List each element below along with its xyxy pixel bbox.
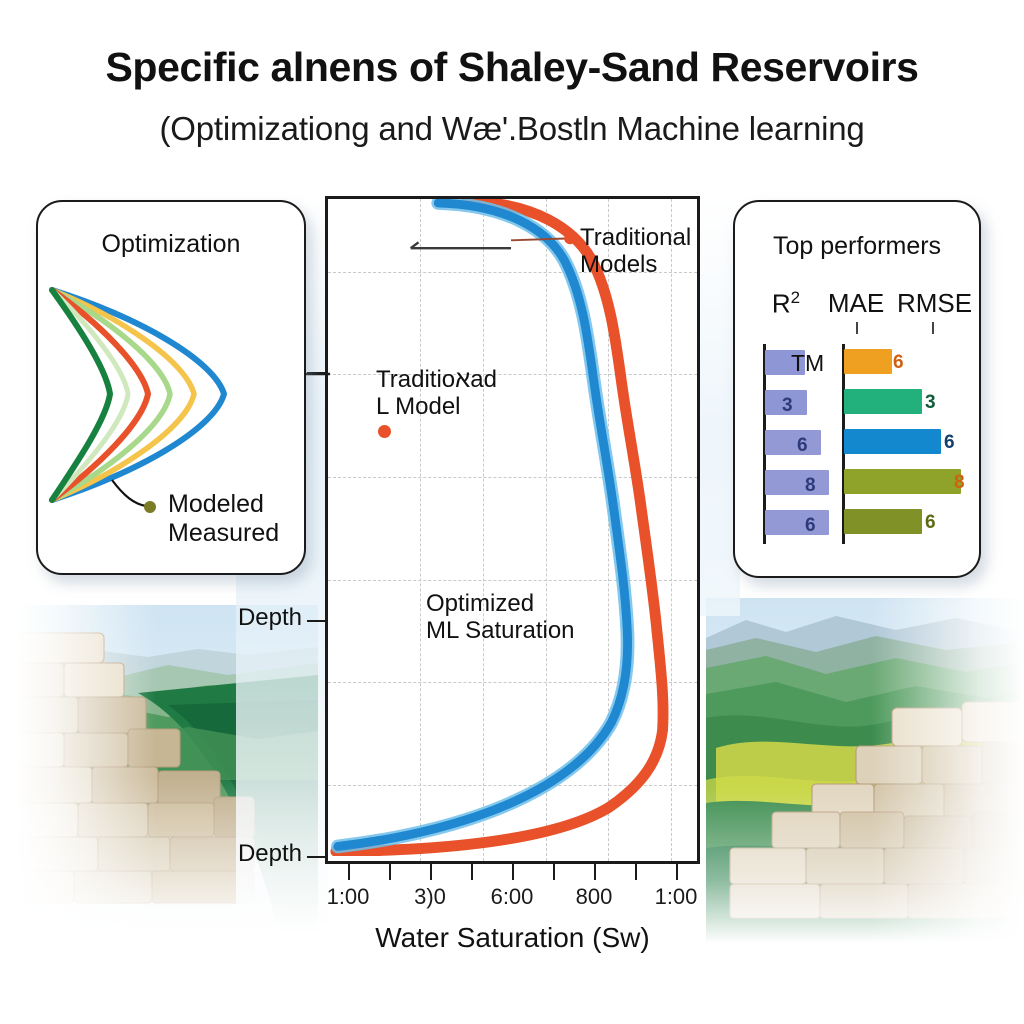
x-axis-tick-9 bbox=[676, 864, 678, 880]
x-axis-ticklabel-5: 1:00 bbox=[636, 884, 716, 910]
page-subtitle: (Optimizationg and Wæ'.Bostln Machine le… bbox=[0, 110, 1024, 148]
saturation-curves bbox=[328, 199, 697, 856]
x-axis-ticklabel-3: 6:00 bbox=[472, 884, 552, 910]
bar-metric-3 bbox=[844, 429, 941, 454]
right-landscape-image bbox=[706, 598, 1024, 943]
x-axis-tick-2 bbox=[389, 864, 391, 880]
optimization-convergence-curves bbox=[46, 268, 296, 518]
water-saturation-depth-plot: Traditional Models Traditioאad L Model O… bbox=[325, 196, 700, 864]
x-axis-ticklabel-1: 1:00 bbox=[308, 884, 388, 910]
page-title: Specific alnens of Shaley-Sand Reservoir… bbox=[0, 44, 1024, 91]
annotation-optimized-ml-saturation: Optimized ML Saturation bbox=[426, 591, 575, 645]
annotation-traditional-models: Traditional Models bbox=[580, 225, 691, 279]
bar-metric-1 bbox=[844, 349, 892, 374]
top-performers-inset-title: Top performers bbox=[735, 232, 979, 261]
metric-header-r2-text: R bbox=[772, 289, 791, 319]
bar-metric-value-3: 6 bbox=[944, 432, 955, 454]
bar-r2-5 bbox=[765, 510, 829, 535]
bar-r2-value-4: 8 bbox=[805, 475, 816, 497]
bar-r2-4 bbox=[765, 470, 829, 495]
bar-r2-value-2: 3 bbox=[782, 395, 793, 417]
bar-r2-3 bbox=[765, 430, 821, 455]
x-axis-tick-3 bbox=[430, 864, 432, 880]
metric-header-r2: R2 bbox=[751, 288, 821, 320]
bar-metric-4 bbox=[844, 469, 961, 494]
x-axis-tick-4 bbox=[471, 864, 473, 880]
metric-tick-mae bbox=[856, 322, 858, 334]
x-axis-tick-7 bbox=[594, 864, 596, 880]
x-axis-ticklabel-4: 800 bbox=[554, 884, 634, 910]
optimization-inset-title: Optimization bbox=[38, 230, 304, 259]
y-axis-tick-3 bbox=[307, 856, 325, 858]
metric-header-r2-sup: 2 bbox=[791, 288, 800, 307]
x-axis-ticklabel-2: 3)0 bbox=[390, 884, 470, 910]
bar-r2-value-3: 6 bbox=[797, 435, 808, 457]
annotation-traditional-ml-model: Traditioאad L Model bbox=[376, 367, 497, 421]
x-axis-title: Water Saturation (Sw) bbox=[325, 922, 700, 954]
bar-metric-value-5: 6 bbox=[925, 512, 936, 534]
metric-header-rmse: RMSE bbox=[897, 288, 967, 319]
y-axis-label-top: Depth bbox=[192, 604, 302, 632]
bar-metric-5 bbox=[844, 509, 922, 534]
optimization-inset-card[interactable]: Optimization Modeled Measured bbox=[36, 200, 306, 575]
y-axis-label-bottom: Depth bbox=[192, 840, 302, 868]
traditional-model-marker-dot bbox=[378, 425, 391, 438]
bar-metric-2 bbox=[844, 389, 922, 414]
bar-row-label-tm: TM bbox=[791, 350, 824, 377]
metric-tick-rmse bbox=[932, 322, 934, 334]
x-axis-tick-8 bbox=[635, 864, 637, 880]
bar-r2-value-5: 6 bbox=[805, 515, 816, 537]
stone-wall-right bbox=[706, 598, 1024, 943]
bar-metric-value-1: 6 bbox=[893, 352, 904, 374]
x-axis-tick-6 bbox=[553, 864, 555, 880]
bar-metric-value-2: 3 bbox=[925, 392, 936, 414]
x-axis-tick-5 bbox=[512, 864, 514, 880]
poster-canvas: Specific alnens of Shaley-Sand Reservoir… bbox=[0, 0, 1024, 1024]
y-axis-tick-2 bbox=[307, 620, 325, 622]
top-performers-inset-card[interactable]: Top performers R2 MAE RMSE 3 6 8 6 TM 6 … bbox=[733, 200, 981, 578]
metric-header-mae: MAE bbox=[821, 288, 891, 319]
bar-metric-value-4: 8 bbox=[954, 472, 965, 494]
optimization-inset-legend: Modeled Measured bbox=[168, 490, 279, 547]
x-axis-tick-1 bbox=[348, 864, 350, 880]
